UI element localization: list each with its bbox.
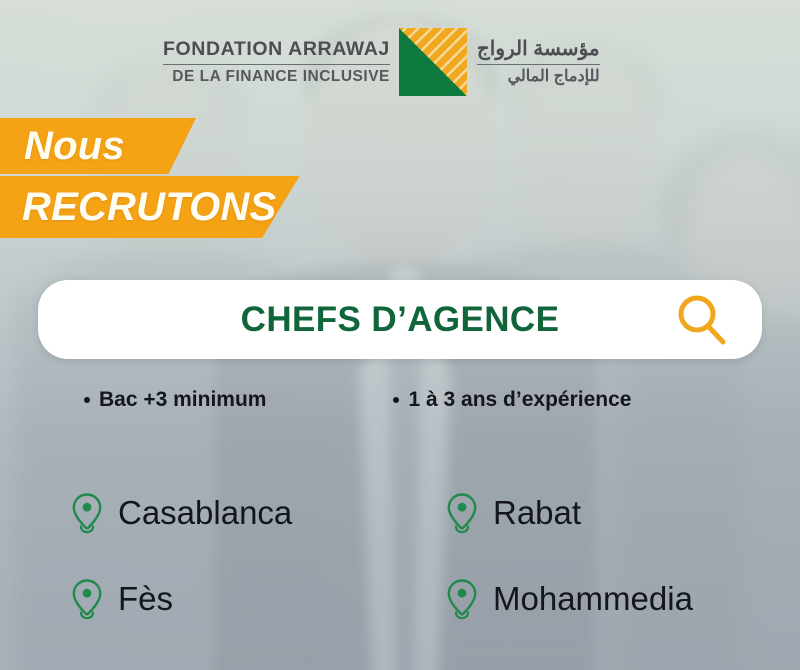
logo-arabic-text: مؤسسة الرواج للإدماج المالي bbox=[467, 38, 600, 86]
location-item-casablanca: Casablanca bbox=[70, 492, 445, 534]
location-pin-icon bbox=[445, 492, 479, 534]
logo-french-line-2: DE LA FINANCE INCLUSIVE bbox=[163, 68, 390, 85]
brand-logo: FONDATION ARRAWAJ DE LA FINANCE INCLUSIV… bbox=[163, 28, 600, 96]
location-label: Rabat bbox=[493, 494, 581, 532]
ribbon-band-recrutons: RECRUTONS bbox=[0, 176, 312, 238]
requirement-item: 1 à 3 ans d’expérience bbox=[393, 388, 631, 412]
logo-divider-rule bbox=[163, 64, 390, 66]
arrawaj-logo-mark-icon bbox=[399, 28, 467, 96]
logo-french-text: FONDATION ARRAWAJ DE LA FINANCE INCLUSIV… bbox=[163, 39, 399, 84]
ribbon-line-2: RECRUTONS bbox=[22, 185, 276, 230]
recruiting-ribbon: Nous RECRUTONS bbox=[0, 118, 312, 238]
requirement-item: Bac +3 minimum bbox=[84, 388, 266, 412]
ribbon-band-nous: Nous bbox=[0, 118, 196, 174]
location-pin-icon bbox=[70, 578, 104, 620]
location-label: Casablanca bbox=[118, 494, 292, 532]
location-item-rabat: Rabat bbox=[445, 492, 581, 534]
location-label: Fès bbox=[118, 580, 173, 618]
requirement-label: Bac +3 minimum bbox=[99, 388, 266, 412]
location-pin-icon bbox=[445, 578, 479, 620]
locations-row: Casablanca Rabat bbox=[0, 470, 800, 556]
locations-row: Fès Mohammedia bbox=[0, 556, 800, 642]
logo-arabic-line-1: مؤسسة الرواج bbox=[477, 38, 600, 61]
job-title-text: CHEFS D’AGENCE bbox=[241, 300, 560, 340]
location-label: Mohammedia bbox=[493, 580, 693, 618]
recruitment-poster: FONDATION ARRAWAJ DE LA FINANCE INCLUSIV… bbox=[0, 0, 800, 670]
bullet-icon bbox=[84, 397, 90, 403]
requirements-list: Bac +3 minimum 1 à 3 ans d’expérience bbox=[0, 388, 800, 412]
requirement-label: 1 à 3 ans d’expérience bbox=[408, 388, 631, 412]
job-title-search-bar[interactable]: CHEFS D’AGENCE bbox=[38, 280, 762, 359]
logo-arabic-line-2: للإدماج المالي bbox=[477, 68, 600, 86]
ribbon-line-1: Nous bbox=[24, 124, 125, 169]
location-item-fes: Fès bbox=[70, 578, 445, 620]
logo-arabic-divider-rule bbox=[477, 64, 600, 66]
location-item-mohammedia: Mohammedia bbox=[445, 578, 693, 620]
logo-french-line-1: FONDATION ARRAWAJ bbox=[163, 39, 390, 60]
location-pin-icon bbox=[70, 492, 104, 534]
locations-list: Casablanca Rabat Fès bbox=[0, 470, 800, 642]
search-icon[interactable] bbox=[675, 293, 729, 347]
bullet-icon bbox=[393, 397, 399, 403]
